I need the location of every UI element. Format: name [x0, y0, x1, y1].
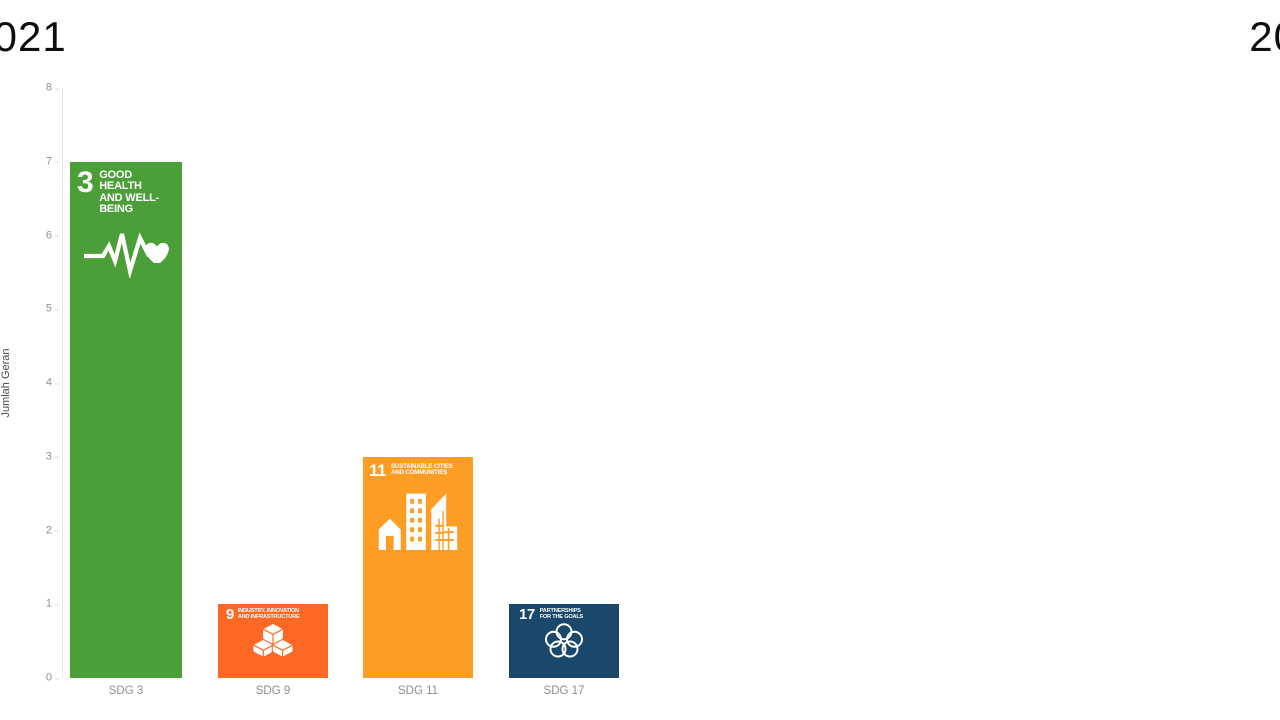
y-tick-7: 7 — [22, 156, 52, 167]
x-category-sdg-17: SDG 17 — [544, 685, 585, 697]
sdg-badge-11: 11 SUSTAINABLE CITIESAND COMMUNITIES — [363, 457, 473, 551]
sdg-number: 3 — [77, 170, 93, 196]
y-tick-3: 3 — [22, 451, 52, 462]
sdg-badge-3: 3 GOOD HEALTHAND WELL-BEING — [70, 162, 182, 278]
chart-title-2022: 2022 — [978, 16, 1280, 58]
sdg-title: INDUSTRY, INNOVATIONAND INFRASTRUCTURE — [238, 609, 300, 621]
sdg-title: GOOD HEALTHAND WELL-BEING — [99, 170, 176, 216]
plot-area-2021: Jumlah Geran 8 7 6 5 4 3 2 1 0 RM685,720… — [62, 88, 634, 678]
cubes-icon — [251, 622, 295, 658]
sdg-title: SUSTAINABLE CITIESAND COMMUNITIES — [391, 464, 453, 477]
sdg-badge-9: 9 INDUSTRY, INNOVATIONAND INFRASTRUCTURE — [218, 604, 328, 658]
sdg-title: PARTNERSHIPSFOR THE GOALS — [540, 609, 583, 621]
x-category-sdg-9: SDG 9 — [256, 685, 291, 697]
x-category-sdg-3: SDG 3 — [109, 685, 144, 697]
y-tick-1: 1 — [22, 599, 52, 610]
heartbeat-heart-icon — [80, 216, 172, 278]
bar-sdg-3[interactable]: RM685,720.00 3 GOOD HEALTHAND WELL-BEING — [70, 162, 182, 678]
sdg-badge-17: 17 PARTNERSHIPSFOR THE GOALS — [509, 604, 619, 658]
y-tick-5: 5 — [22, 304, 52, 315]
y-tick-4: 4 — [22, 378, 52, 389]
city-buildings-icon — [377, 492, 459, 550]
bar-sdg-9[interactable]: RM82,960.00 9 INDUSTRY, INNOVATIONAND IN… — [218, 604, 328, 678]
interlocking-circles-icon — [544, 622, 584, 658]
bar-sdg-17[interactable]: RM6,140,000.00 17 PARTNERSHIPSFOR THE GO… — [509, 604, 619, 678]
y-tick-8: 8 — [22, 83, 52, 94]
slide-canvas: 2021 Jumlah Geran 8 7 6 5 4 3 2 1 0 RM68… — [0, 0, 1280, 720]
sdg-number: 9 — [226, 609, 234, 622]
sdg-number: 11 — [369, 464, 386, 479]
chart-title-2021: 2021 — [0, 16, 338, 58]
y-tick-0: 0 — [22, 673, 52, 684]
y-axis-line — [62, 88, 63, 678]
sdg-number: 17 — [519, 609, 535, 622]
y-axis-title: Jumlah Geran — [0, 348, 12, 417]
y-tick-2: 2 — [22, 525, 52, 536]
chart-panel-2022: 2022 Jumlah Geran 8 7 6 5 4 3 2 1 0 RM81… — [640, 0, 1280, 720]
y-tick-6: 6 — [22, 230, 52, 241]
x-category-sdg-11: SDG 11 — [398, 685, 438, 697]
chart-panel-2021: 2021 Jumlah Geran 8 7 6 5 4 3 2 1 0 RM68… — [0, 0, 640, 720]
bar-sdg-11[interactable]: RM5,601,200.00 11 SUSTAINABLE CITIESAND … — [363, 457, 473, 678]
